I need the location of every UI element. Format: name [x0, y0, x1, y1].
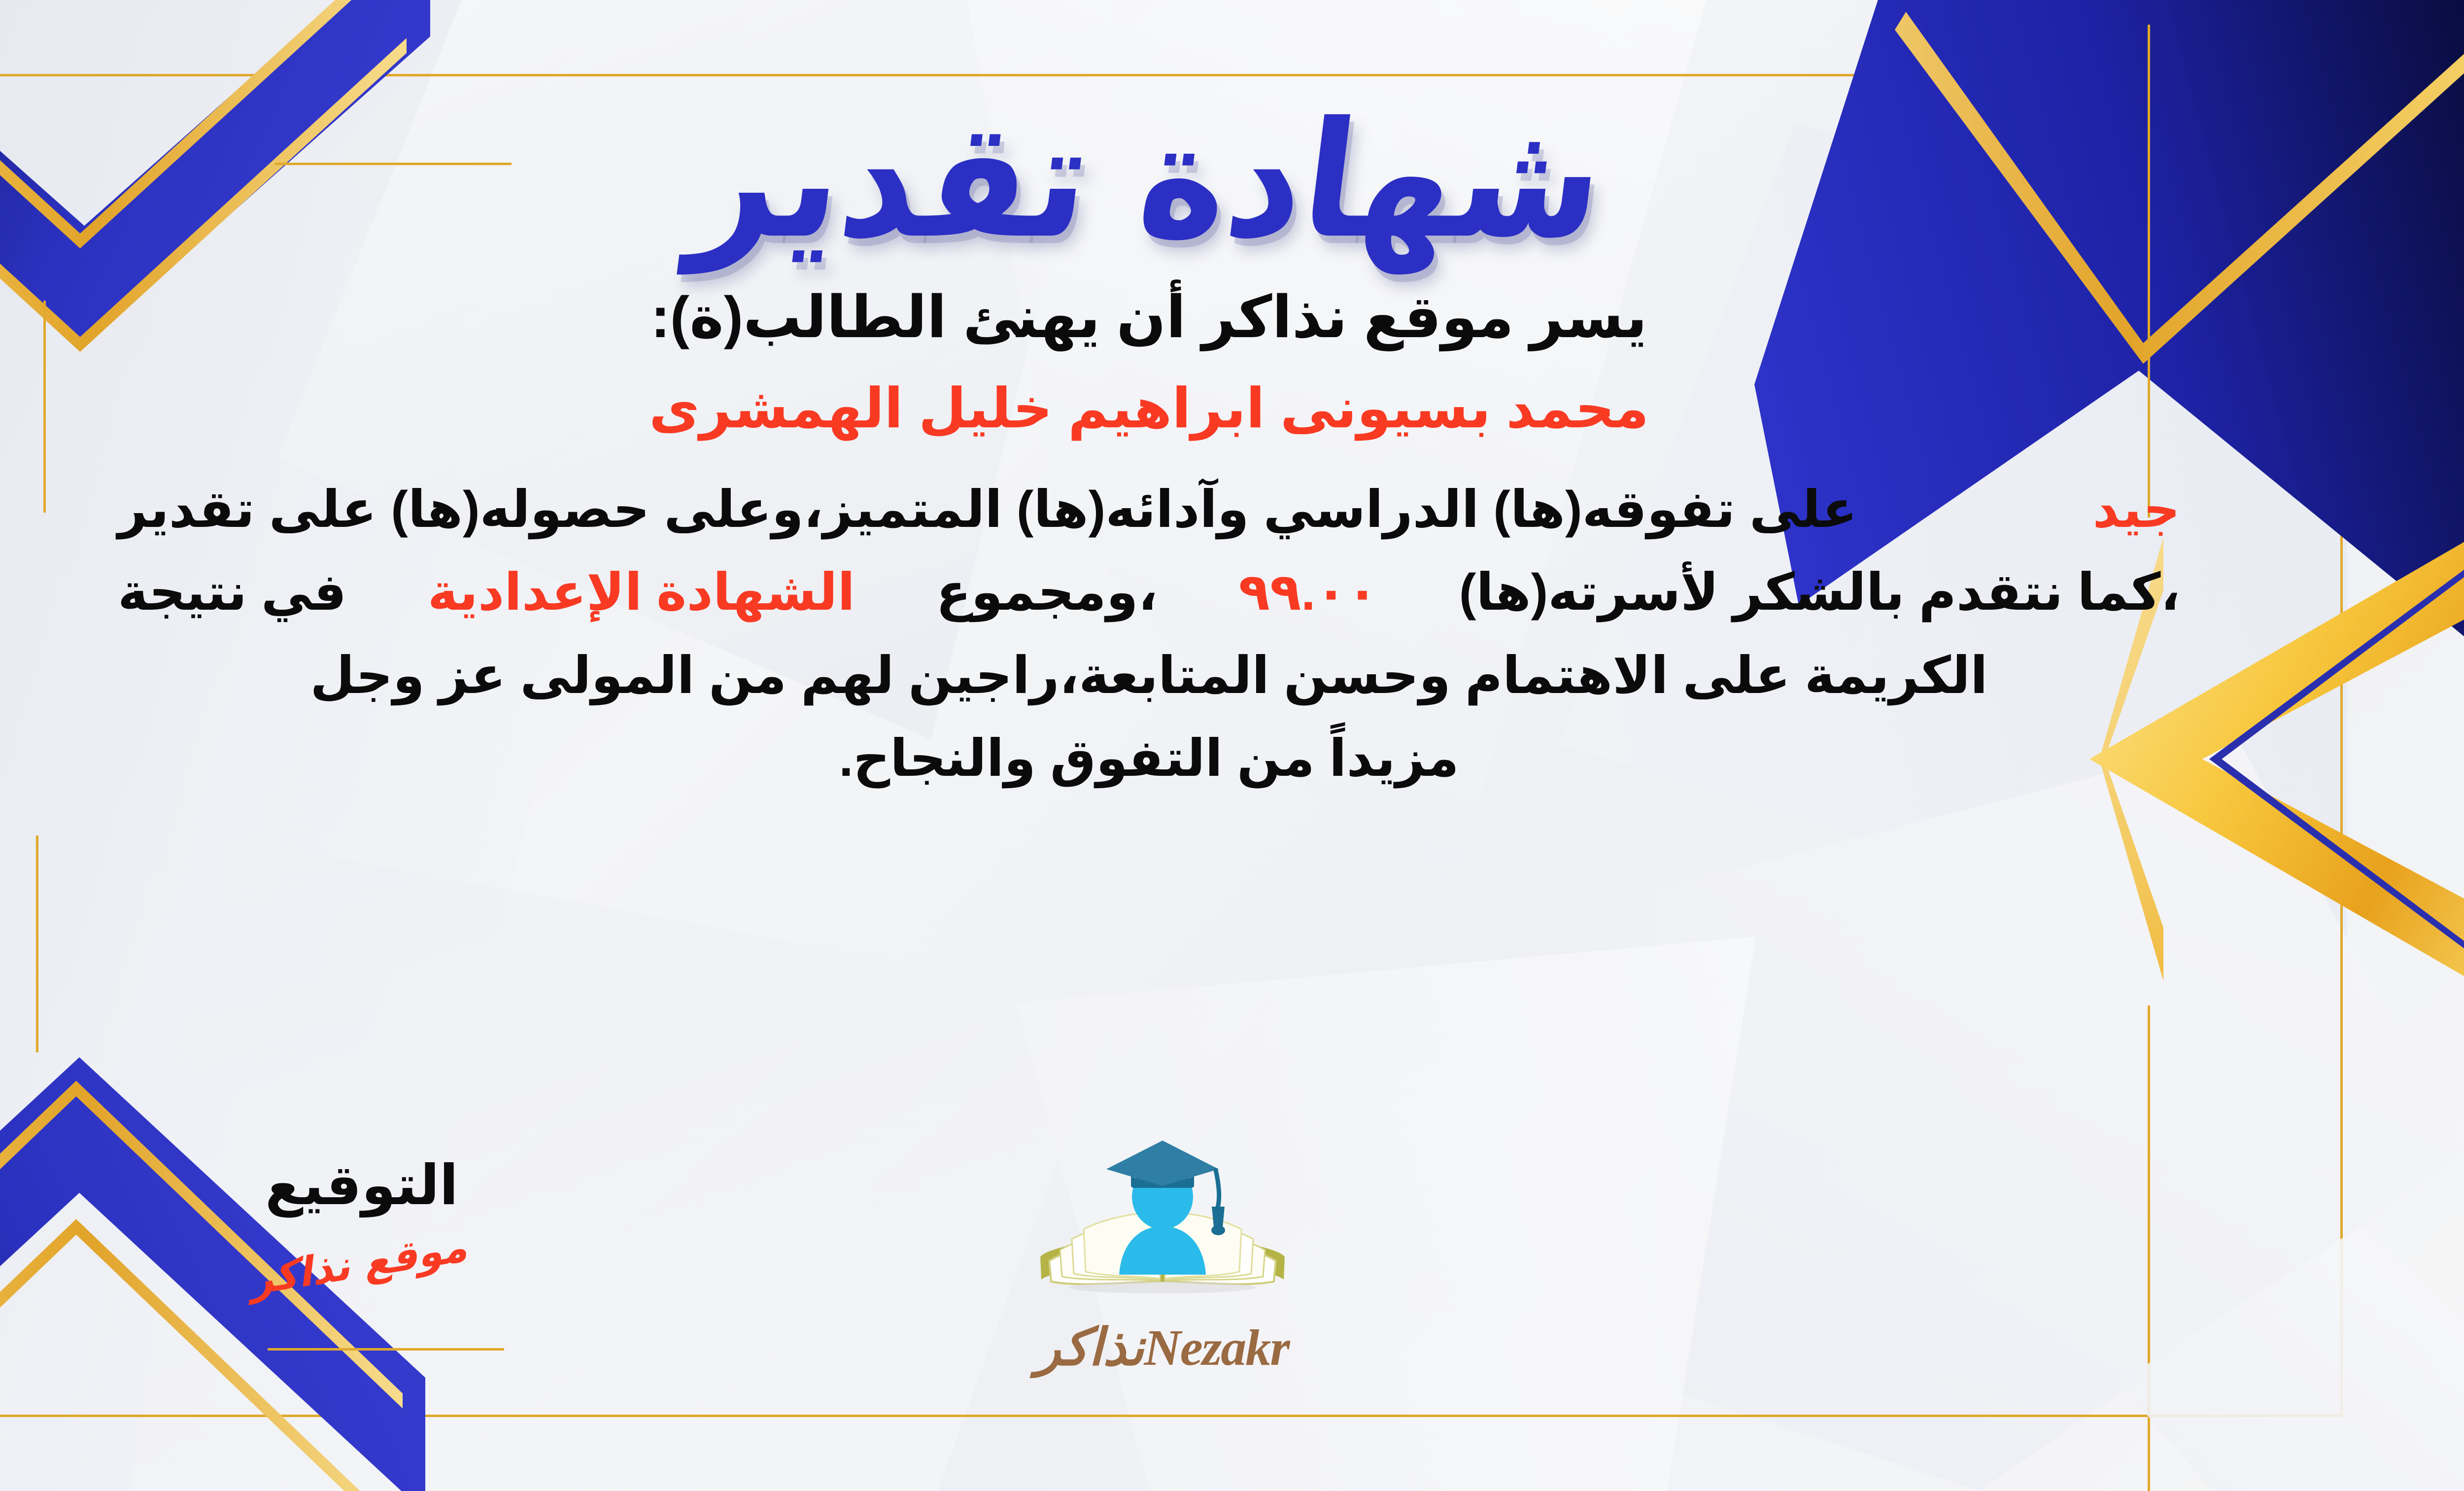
logo-wordmark-arabic: نذاكر [1036, 1319, 1144, 1376]
certificate-canvas: شهادة تقدير يسر موقع نذاكر أن يهنئ الطال… [0, 0, 2464, 1491]
student-name: محمد بسيونى ابراهيم خليل الهمشرى [118, 377, 2180, 441]
body-line-3: الكريمة على الاهتمام وحسن المتابعة،راجين… [118, 634, 2180, 717]
site-logo: Nezakrنذاكر [990, 1134, 1335, 1377]
grade-value: جيد [2093, 468, 2180, 551]
certificate-title: شهادة تقدير [106, 82, 2192, 270]
body-line-4: مزيداً من التفوق والنجاح. [118, 717, 2180, 800]
logo-wordmark: Nezakrنذاكر [990, 1317, 1335, 1377]
score-value: ٩٩.٠٠ [1238, 551, 1378, 634]
body-line-2: ،كما نتقدم بالشكر لأسرته(ها) ٩٩.٠٠ ،ومجم… [118, 551, 2180, 634]
signature-block: التوقيع موقع نذاكر [174, 1153, 549, 1287]
body-line-1-text: على تفوقه(ها) الدراسي وآدائه(ها) المتميز… [118, 468, 1857, 551]
intro-line: يسر موقع نذاكر أن يهنئ الطالب(ة): [118, 283, 2180, 351]
body-line-2-part2: ،ومجموع [936, 551, 1158, 634]
certificate-body: جيد على تفوقه(ها) الدراسي وآدائه(ها) الم… [118, 468, 2180, 800]
signature-handwriting: موقع نذاكر [250, 1222, 473, 1305]
logo-wordmark-latin: Nezakr [1144, 1319, 1289, 1376]
exam-name: الشهادة الإعدادية [428, 551, 855, 634]
body-line-2-part1: في نتيجة [118, 551, 346, 634]
body-line-2-part3: ،كما نتقدم بالشكر لأسرته(ها) [1459, 551, 2180, 634]
body-line-1: جيد على تفوقه(ها) الدراسي وآدائه(ها) الم… [118, 468, 2180, 551]
signature-label: التوقيع [174, 1153, 549, 1217]
graduate-book-logo-icon [1034, 1134, 1291, 1321]
certificate-footer: التوقيع موقع نذاكر [0, 1134, 2343, 1429]
